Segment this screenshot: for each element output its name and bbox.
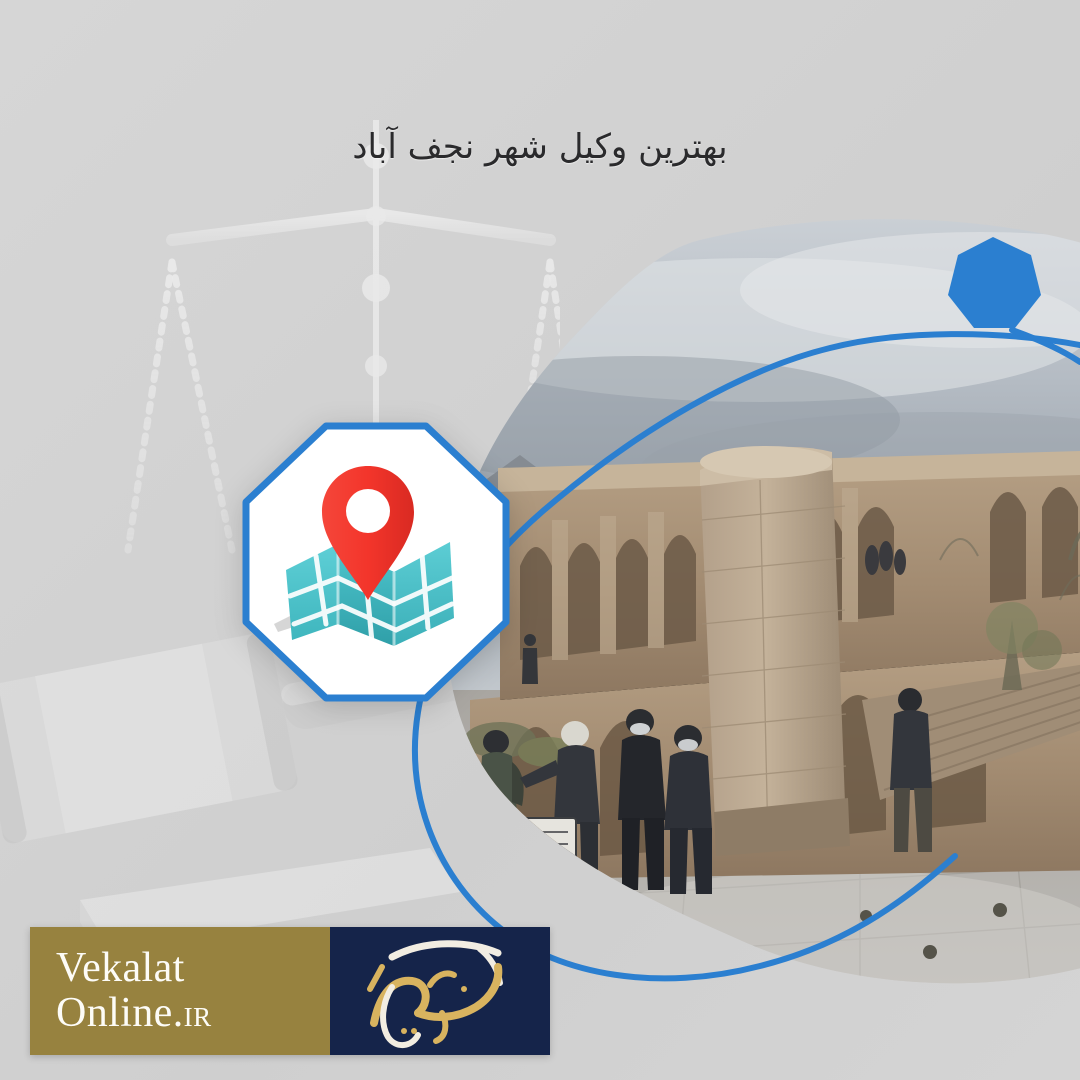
logo-calligraphy-mark [330,927,550,1055]
map-location-badge[interactable] [238,418,514,706]
photo-vendor-cart [520,818,576,880]
page-title: بهترین وکیل شهر نجف آباد [0,127,1080,167]
vekalat-online-logo[interactable]: Vekalat Online.IR [30,927,550,1055]
logo-brand-line2: Online.IR [56,991,330,1036]
logo-brand-separator: . [173,990,184,1036]
logo-brand-line1: Vekalat [56,946,330,991]
photo-person [522,634,538,684]
logo-brand-name: Online [56,990,173,1036]
logo-brand-tld: IR [184,1002,212,1032]
poster-canvas: بهترین وکیل شهر نجف آباد [0,0,1080,1080]
persian-calligraphy-icon [330,927,550,1055]
logo-wordmark: Vekalat Online.IR [30,927,330,1055]
